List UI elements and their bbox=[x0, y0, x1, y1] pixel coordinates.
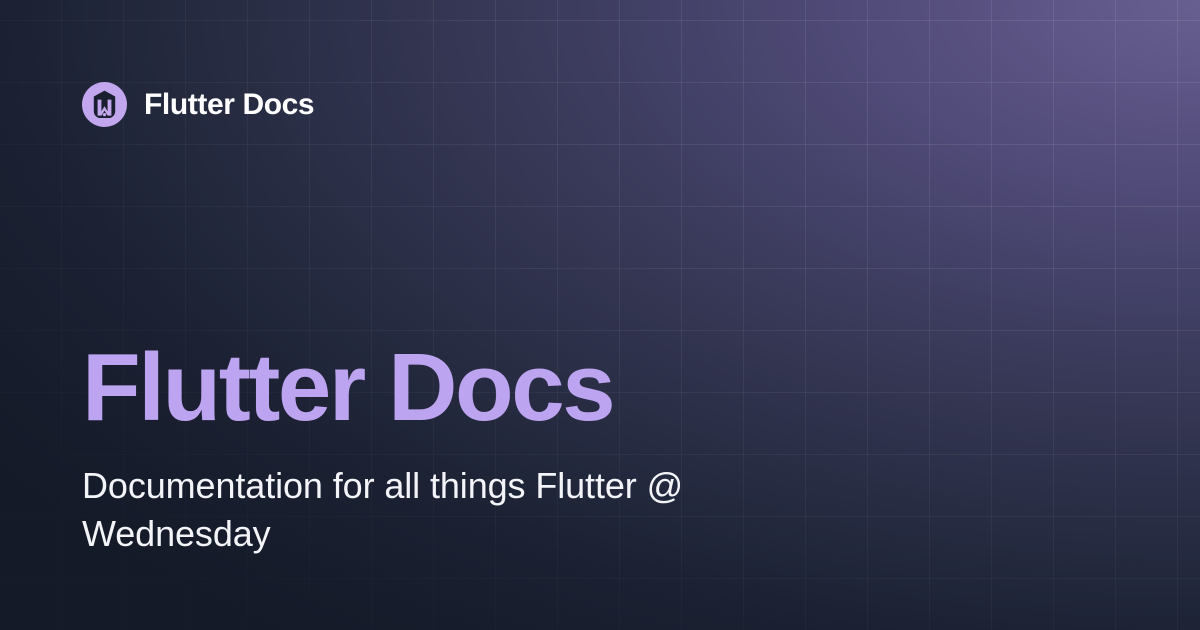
webflow-shield-icon bbox=[82, 82, 127, 127]
social-preview-card: Flutter Docs Flutter Docs Documentation … bbox=[0, 0, 1200, 630]
content-block: Flutter Docs Documentation for all thing… bbox=[82, 340, 742, 557]
page-subtitle: Documentation for all things Flutter @ W… bbox=[82, 462, 742, 557]
brand-name-label: Flutter Docs bbox=[144, 90, 314, 120]
brand-lockup: Flutter Docs bbox=[82, 82, 314, 127]
page-title: Flutter Docs bbox=[82, 340, 742, 436]
